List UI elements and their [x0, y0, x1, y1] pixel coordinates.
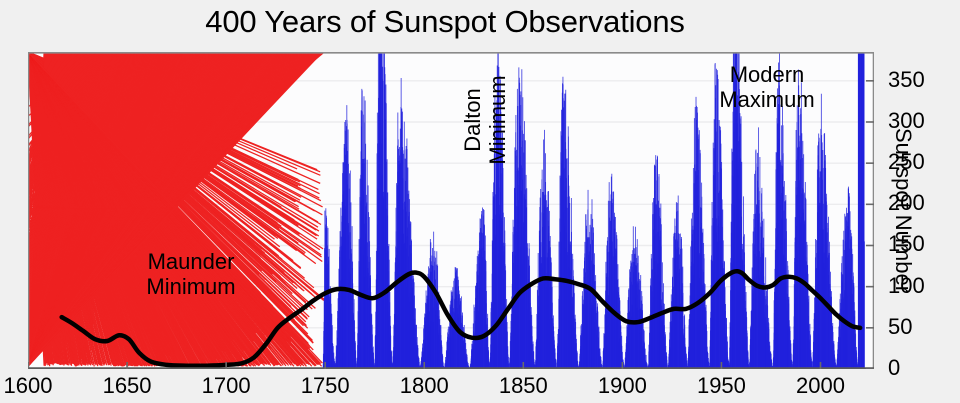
- annotation-dalton-line2: Minimum: [485, 30, 510, 210]
- annotation-dalton-line1: Dalton: [460, 30, 485, 210]
- x-tick-label: 1900: [582, 375, 662, 397]
- annotation-modern-maximum: Modern Maximum: [672, 62, 862, 112]
- sunspot-chart-figure: 400 Years of Sunspot Observations 050100…: [0, 0, 960, 403]
- x-tick-label: 1800: [384, 375, 464, 397]
- annotation-modern-line1: Modern: [672, 62, 862, 87]
- y-axis-title: Sunspot Number: [890, 52, 916, 369]
- x-tick-label: 2000: [781, 375, 861, 397]
- page-title: 400 Years of Sunspot Observations: [0, 2, 890, 42]
- annotation-maunder-line1: Maunder: [106, 249, 276, 274]
- x-tick-label: 1750: [285, 375, 365, 397]
- annotation-maunder-line2: Minimum: [106, 274, 276, 299]
- x-tick-label: 1700: [186, 375, 266, 397]
- x-tick-label: 1950: [681, 375, 761, 397]
- annotation-dalton-minimum: Dalton Minimum: [460, 30, 516, 210]
- annotation-modern-line2: Maximum: [672, 87, 862, 112]
- x-tick-label: 1650: [87, 375, 167, 397]
- annotation-maunder-minimum: Maunder Minimum: [106, 249, 276, 299]
- x-tick-label: 1600: [0, 375, 68, 397]
- x-tick-label: 1850: [483, 375, 563, 397]
